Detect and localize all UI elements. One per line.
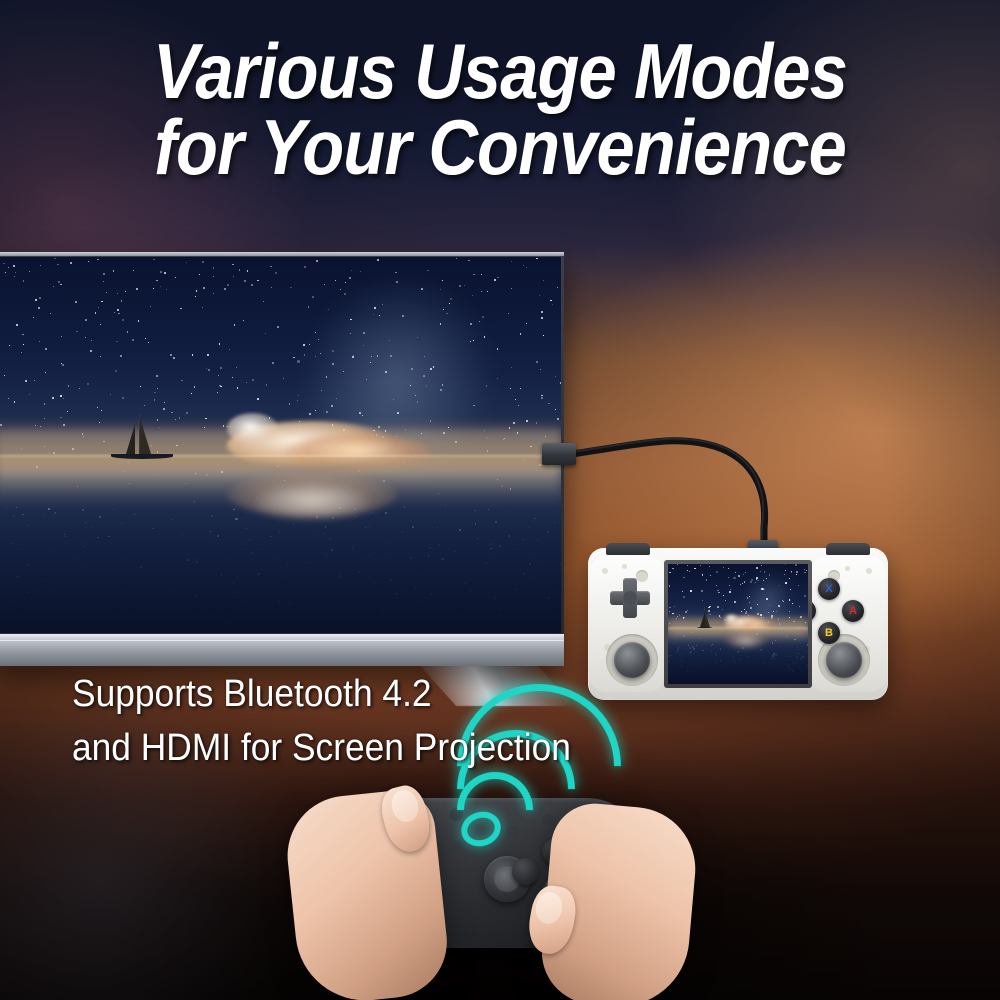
sailboat: [697, 627, 712, 629]
internal-component: [866, 568, 872, 574]
subtitle: Supports Bluetooth 4.2 and HDMI for Scre…: [72, 668, 608, 776]
analog-stick-right[interactable]: [826, 642, 862, 678]
cloud-reflection: [725, 632, 767, 646]
handheld-console: X Y A B: [588, 548, 888, 700]
dpad[interactable]: [610, 578, 650, 618]
dpad-center: [623, 591, 637, 605]
headline-line-2: for Your Convenience: [60, 110, 940, 186]
button-x[interactable]: X: [818, 578, 840, 600]
shoulder-button-r[interactable]: [826, 543, 870, 555]
sailboat-hull: [697, 627, 712, 629]
button-x-label: X: [825, 583, 832, 595]
button-b-label: B: [825, 627, 833, 639]
sailboat-sail-main: [140, 418, 151, 454]
button-a[interactable]: A: [842, 600, 864, 622]
internal-component: [602, 568, 608, 574]
handheld-screen: [668, 564, 808, 684]
cloud-reflection-secondary: [255, 487, 368, 521]
marketing-banner: X Y A B: [0, 0, 1000, 1000]
button-b[interactable]: B: [818, 622, 840, 644]
tv-screen: [0, 257, 561, 634]
sailboat: [111, 454, 173, 460]
television: [0, 252, 564, 666]
headline-line-1: Various Usage Modes: [60, 34, 940, 110]
controller-button-y[interactable]: [512, 858, 539, 885]
cloud-top: [227, 413, 278, 443]
tv-top-highlight: [0, 252, 564, 256]
hdmi-connector-tv: [542, 443, 576, 465]
shoulder-button-l[interactable]: [606, 543, 650, 555]
sailboat-hull: [111, 454, 173, 460]
analog-stick-left[interactable]: [614, 642, 650, 678]
handheld-screen-artwork: [668, 564, 808, 684]
headline: Various Usage Modes for Your Convenience: [0, 34, 1000, 185]
button-a-label: A: [849, 605, 857, 617]
internal-component: [622, 564, 627, 569]
tv-bottom-bezel: [0, 633, 564, 666]
tv-screen-artwork: [0, 257, 561, 634]
internal-component: [845, 566, 850, 571]
subtitle-line-1: Supports Bluetooth 4.2: [72, 668, 571, 722]
sailboat-sail-jib: [700, 612, 705, 627]
sailboat-sail-jib: [126, 424, 135, 454]
handheld-screen-frame: [664, 560, 812, 688]
subtitle-line-2: and HDMI for Screen Projection: [72, 722, 571, 776]
